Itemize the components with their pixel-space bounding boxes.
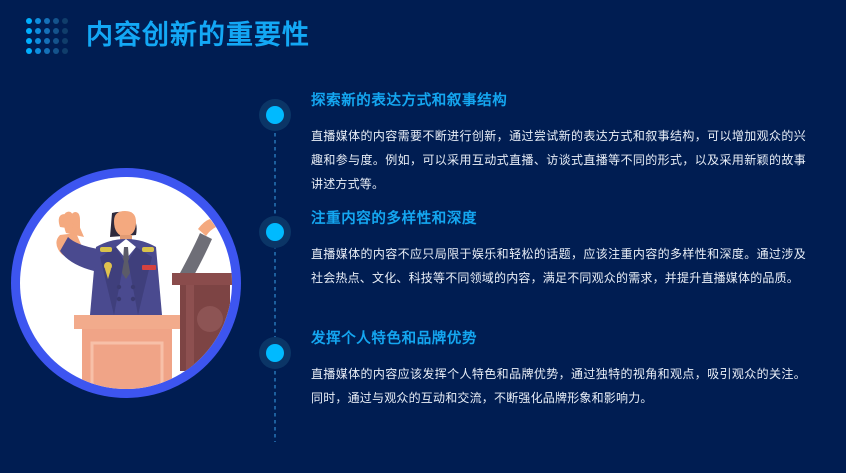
section-heading-3: 发挥个人特色和品牌优势: [311, 329, 806, 349]
section-body-2: 直播媒体的内容不应只局限于娱乐和轻松的话题，应该注重内容的多样性和深度。通过涉及…: [311, 242, 806, 290]
timeline-marker-1[interactable]: [259, 99, 291, 131]
section-heading-1: 探索新的表达方式和叙事结构: [311, 91, 806, 111]
main-podium: [74, 315, 180, 389]
section-body-3: 直播媒体的内容应该发挥个人特色和品牌优势，通过独特的视角和观点，吸引观众的关注。…: [311, 362, 806, 410]
timeline-marker-3[interactable]: [259, 337, 291, 369]
timeline-marker-2[interactable]: [259, 216, 291, 248]
illustration-disc: [20, 177, 232, 389]
dot-grid-icon: [24, 16, 70, 56]
speaker-illustration-graphic: [20, 177, 232, 389]
timeline-dashed-line: [274, 112, 276, 442]
speaker-figure: [56, 211, 162, 315]
content-block-3: 发挥个人特色和品牌优势 直播媒体的内容应该发挥个人特色和品牌优势，通过独特的视角…: [311, 329, 806, 410]
section-body-1: 直播媒体的内容需要不断进行创新，通过尝试新的表达方式和叙事结构，可以增加观众的兴…: [311, 124, 806, 196]
slide-header: 内容创新的重要性: [0, 0, 846, 68]
page-title: 内容创新的重要性: [86, 16, 310, 54]
content-block-2: 注重内容的多样性和深度 直播媒体的内容不应只局限于娱乐和轻松的话题，应该注重内容…: [311, 209, 806, 290]
second-podium-group: [172, 219, 232, 371]
section-heading-2: 注重内容的多样性和深度: [311, 209, 806, 229]
content-block-1: 探索新的表达方式和叙事结构 直播媒体的内容需要不断进行创新，通过尝试新的表达方式…: [311, 91, 806, 196]
slide-canvas: 内容创新的重要性: [0, 0, 846, 473]
illustration-speaker-at-podium: [11, 168, 241, 398]
